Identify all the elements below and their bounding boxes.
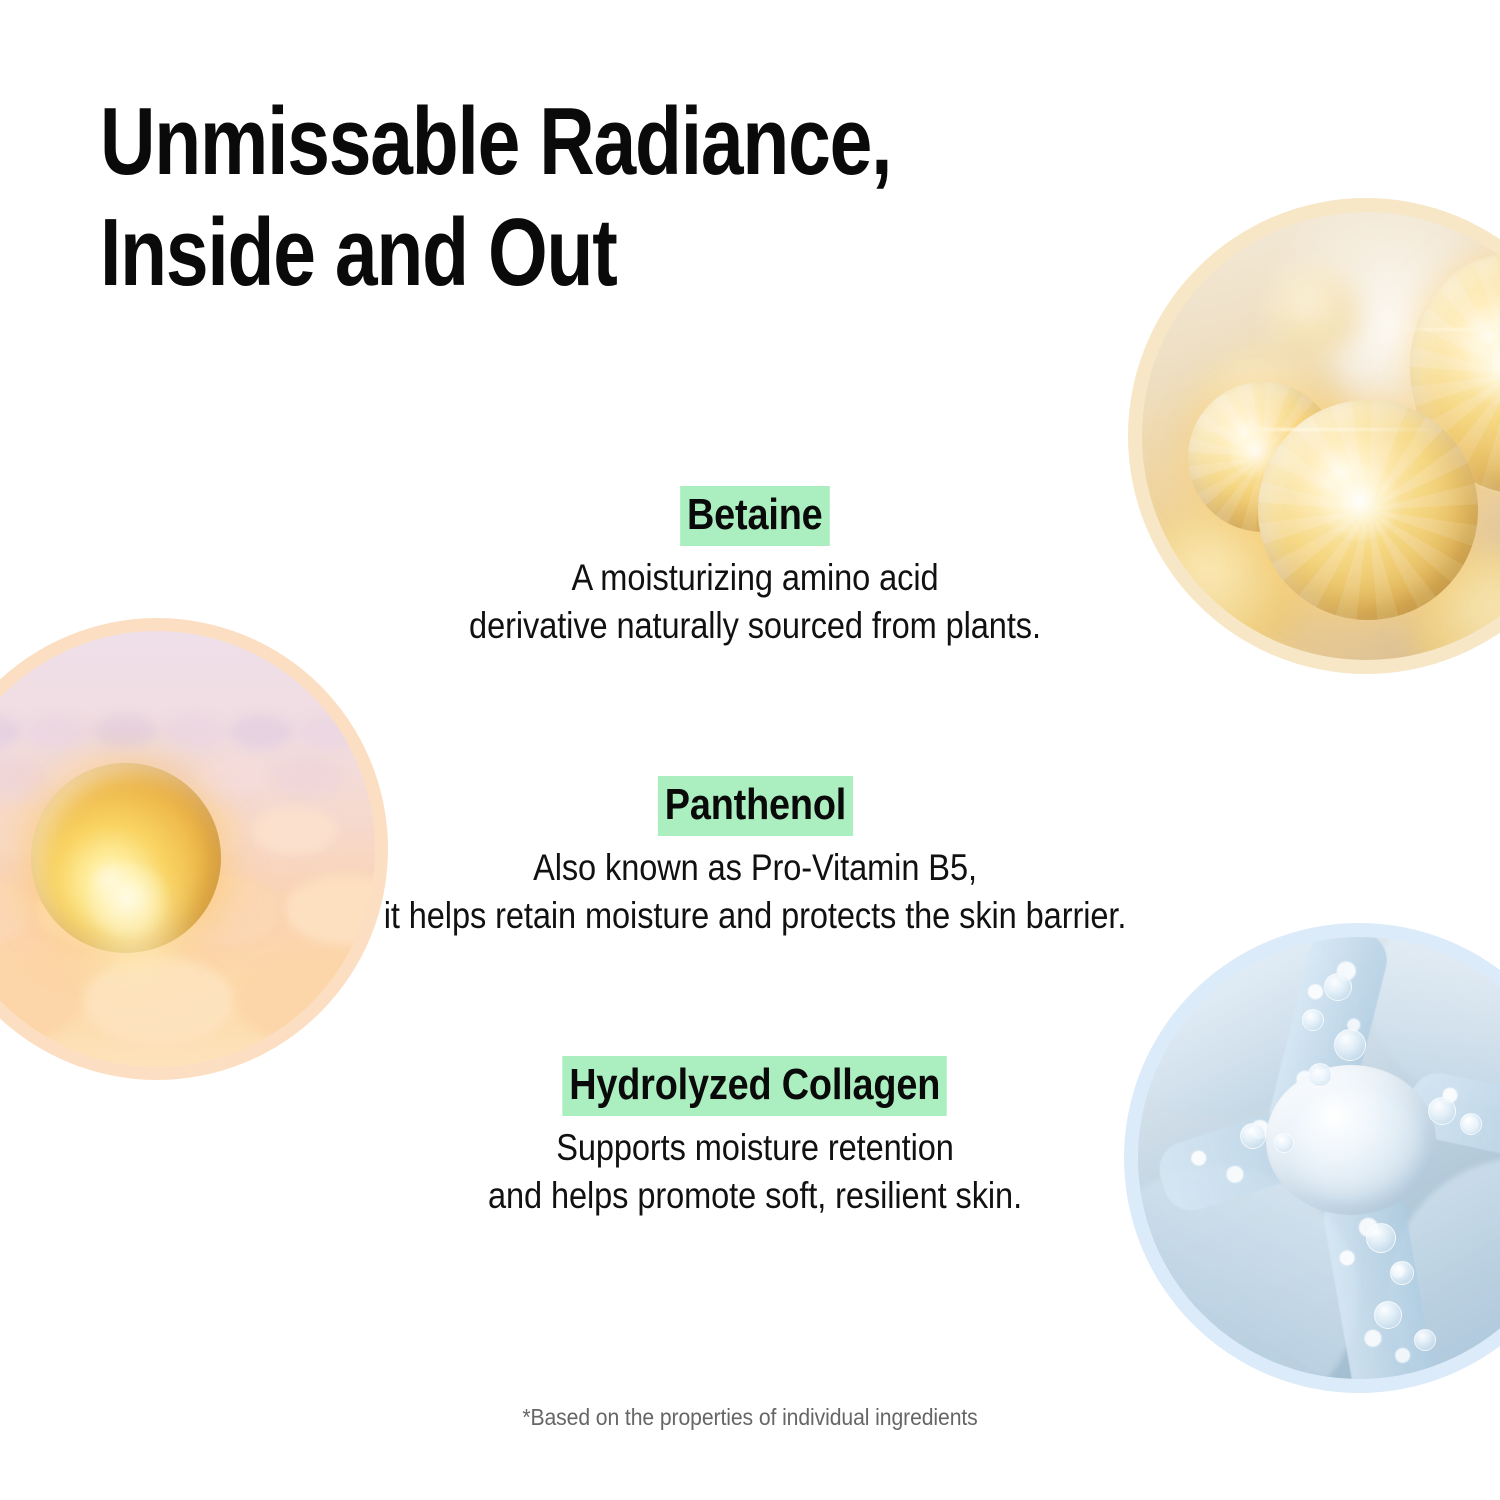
skin-cell <box>93 715 157 749</box>
disclaimer-footnote: *Based on the properties of individual i… <box>60 1404 1440 1431</box>
ingredient-description-line: derivative naturally sourced from plants… <box>245 602 1266 650</box>
ingredient-block-hydrolyzed-collagen: Hydrolyzed Collagen Supports moisture re… <box>175 1056 1335 1220</box>
skin-cell <box>161 715 225 749</box>
ingredient-name-wrap: Panthenol <box>175 776 1335 836</box>
ingredient-description-line: Supports moisture retention <box>245 1124 1266 1172</box>
ingredient-description-line: it helps retain moisture and protects th… <box>245 892 1266 940</box>
skin-cell <box>229 715 293 749</box>
ingredient-description-line: Also known as Pro-Vitamin B5, <box>245 844 1266 892</box>
ingredient-description-panthenol: Also known as Pro-Vitamin B5, it helps r… <box>245 844 1266 940</box>
skin-cell <box>0 875 33 945</box>
ingredient-name-panthenol: Panthenol <box>657 776 852 836</box>
page-title: Unmissable Radiance, Inside and Out <box>100 86 1150 309</box>
skin-cell <box>297 715 361 749</box>
bubble <box>1390 1261 1414 1285</box>
ingredient-name-betaine: Betaine <box>680 486 829 546</box>
bubble <box>1334 1029 1366 1061</box>
skin-cell <box>0 715 21 749</box>
skin-cell <box>0 757 46 795</box>
skin-cell-row-1 <box>0 715 375 749</box>
page-title-line-1: Unmissable Radiance, <box>100 86 940 197</box>
ingredient-description-betaine: A moisturizing amino acid derivative nat… <box>245 554 1266 650</box>
ingredient-description-line: A moisturizing amino acid <box>245 554 1266 602</box>
skin-cell <box>25 715 89 749</box>
bubble <box>1374 1301 1402 1329</box>
bubble <box>1366 1223 1396 1253</box>
skin-cell <box>238 957 375 1045</box>
ingredient-description-line: and helps promote soft, resilient skin. <box>245 1172 1266 1220</box>
ingredient-name-hydrolyzed-collagen: Hydrolyzed Collagen <box>563 1056 948 1116</box>
skin-cell <box>0 957 80 1045</box>
skin-cell-row-5 <box>0 957 375 1045</box>
ingredient-block-panthenol: Panthenol Also known as Pro-Vitamin B5, … <box>175 776 1335 940</box>
ingredient-description-hydrolyzed-collagen: Supports moisture retention and helps pr… <box>245 1124 1266 1220</box>
light-flare-left <box>1182 428 1442 431</box>
ingredient-block-betaine: Betaine A moisturizing amino acid deriva… <box>175 486 1335 650</box>
ingredient-name-wrap: Betaine <box>175 486 1335 546</box>
page-title-line-2: Inside and Out <box>100 197 940 308</box>
bubble <box>1302 1009 1324 1031</box>
bubble <box>1460 1113 1482 1135</box>
bubble <box>1428 1097 1456 1125</box>
infographic-canvas: Unmissable Radiance, Inside and Out <box>0 0 1500 1500</box>
bubble <box>1324 973 1352 1001</box>
light-flare-upper <box>1372 328 1500 331</box>
bubble <box>1414 1329 1436 1351</box>
ingredient-name-wrap: Hydrolyzed Collagen <box>175 1056 1335 1116</box>
